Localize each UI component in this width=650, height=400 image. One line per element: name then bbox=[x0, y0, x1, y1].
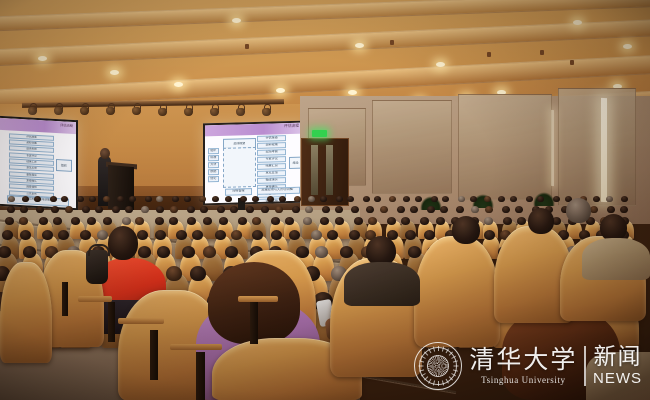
attendee-head bbox=[97, 230, 108, 240]
attendee-head bbox=[166, 266, 182, 281]
attendee-head bbox=[363, 196, 370, 202]
seat-leg bbox=[250, 300, 258, 344]
attendee-head bbox=[176, 230, 187, 240]
attendee-head bbox=[261, 206, 269, 213]
attendee-head bbox=[380, 206, 388, 213]
attendee-head bbox=[65, 206, 73, 213]
attendee-head bbox=[187, 206, 195, 213]
attendee-head bbox=[515, 206, 523, 213]
attendee-head bbox=[230, 206, 238, 213]
attendee-head bbox=[471, 206, 479, 213]
attendee-head bbox=[279, 196, 286, 202]
attendee-head bbox=[485, 206, 493, 213]
attendee-head bbox=[292, 206, 300, 213]
attendee-head bbox=[271, 217, 280, 225]
attendee-head bbox=[498, 196, 505, 202]
attendee-head bbox=[320, 196, 327, 202]
attendee-head bbox=[219, 217, 228, 225]
attendee-head bbox=[335, 217, 344, 225]
attendee-head bbox=[20, 206, 28, 213]
attendee-head bbox=[607, 206, 615, 213]
attendee-head bbox=[95, 206, 103, 213]
attendee-head bbox=[182, 246, 195, 258]
attendee-head bbox=[484, 196, 491, 202]
attendee-head bbox=[620, 206, 628, 213]
attendee-head bbox=[354, 217, 363, 225]
attendee-head bbox=[415, 196, 422, 202]
attendee-head bbox=[184, 196, 191, 202]
attendee-head bbox=[36, 206, 44, 213]
attendee-head bbox=[553, 196, 560, 202]
attendee-head bbox=[327, 230, 338, 240]
attendee-head bbox=[389, 196, 396, 202]
attendee-head bbox=[436, 217, 445, 225]
attendee-head bbox=[53, 217, 62, 225]
attendee-head bbox=[199, 196, 206, 202]
attendee-head bbox=[50, 196, 57, 202]
attendee-head bbox=[303, 217, 312, 225]
attendee-head bbox=[267, 196, 274, 202]
attendee-head bbox=[51, 206, 59, 213]
attendee-head bbox=[566, 198, 591, 223]
attendee-head bbox=[502, 206, 510, 213]
attendee-head bbox=[271, 230, 282, 240]
attendee-head bbox=[103, 196, 110, 202]
attendee-head bbox=[137, 230, 148, 240]
attendee-head bbox=[138, 246, 151, 258]
attendee-head bbox=[238, 217, 247, 225]
attendee-head bbox=[187, 217, 196, 225]
attendee-body bbox=[344, 262, 420, 306]
attendee-head bbox=[2, 230, 13, 240]
attendee-head bbox=[82, 206, 90, 213]
attendee-head bbox=[621, 196, 628, 202]
attendee-head bbox=[403, 196, 410, 202]
seat bbox=[0, 262, 52, 363]
attendee-head bbox=[340, 246, 353, 258]
attendee-head bbox=[145, 196, 152, 202]
attendee-head bbox=[200, 206, 208, 213]
attendee-head bbox=[129, 196, 136, 202]
attendee-head bbox=[275, 206, 283, 213]
attendee-head bbox=[347, 196, 354, 202]
attendee-head bbox=[351, 206, 359, 213]
attendee-head bbox=[484, 217, 493, 225]
attendee-head bbox=[408, 246, 421, 258]
attendee-head bbox=[155, 217, 164, 225]
attendee-head bbox=[39, 217, 48, 225]
attendee-red-jacket-head bbox=[108, 226, 138, 260]
attendee-head bbox=[215, 230, 226, 240]
attendee-head bbox=[212, 196, 219, 202]
attendee-head bbox=[77, 196, 84, 202]
attendee-head bbox=[217, 206, 225, 213]
attendee-head bbox=[156, 196, 163, 202]
attendee-head bbox=[87, 217, 96, 225]
attendee-head bbox=[225, 246, 238, 258]
attendee-head bbox=[470, 196, 477, 202]
attendee-head bbox=[192, 230, 203, 240]
attendee-head bbox=[20, 230, 31, 240]
attendee-head bbox=[322, 206, 330, 213]
seat-armrest bbox=[238, 296, 278, 302]
attendee-head bbox=[308, 196, 315, 202]
attendee-head bbox=[289, 230, 300, 240]
attendee-head bbox=[240, 196, 247, 202]
attendee-head bbox=[252, 196, 259, 202]
attendee-head bbox=[374, 196, 381, 202]
attendee-head bbox=[305, 206, 313, 213]
attendee-head bbox=[112, 206, 120, 213]
attendee-head bbox=[117, 196, 124, 202]
attendee-head bbox=[203, 246, 216, 258]
attendee-head bbox=[34, 196, 41, 202]
attendee-head bbox=[169, 217, 178, 225]
attendee-head bbox=[526, 196, 533, 202]
attendee-brown-hair-shoulder bbox=[586, 352, 650, 400]
attendee-head bbox=[170, 206, 178, 213]
attendee-head bbox=[410, 206, 418, 213]
attendee-head bbox=[510, 196, 517, 202]
attendee-head bbox=[294, 196, 301, 202]
seat-armrest bbox=[118, 318, 164, 324]
attendee-head bbox=[225, 196, 232, 202]
attendee-head bbox=[442, 196, 449, 202]
seat-leg bbox=[150, 330, 158, 380]
attendee-head bbox=[484, 230, 495, 240]
attendee-head bbox=[397, 206, 405, 213]
attendee-head bbox=[155, 230, 166, 240]
attendee-head bbox=[387, 217, 396, 225]
attendee-head bbox=[23, 246, 36, 258]
attendee-head bbox=[335, 206, 343, 213]
auditorium-photo: 评估流程 评估准备资料收集现场考察专家评议结果汇总意见反馈整改落实复核确认报告编… bbox=[0, 0, 650, 400]
attendee-head bbox=[103, 217, 112, 225]
attendee-head bbox=[252, 230, 263, 240]
attendee-head bbox=[600, 214, 627, 241]
attendee-head bbox=[366, 206, 374, 213]
attendee-head bbox=[593, 196, 600, 202]
attendee-head bbox=[336, 196, 343, 202]
attendee-head bbox=[440, 206, 448, 213]
attendee-head bbox=[458, 196, 465, 202]
bag-handle bbox=[88, 244, 110, 256]
seat-armrest bbox=[170, 344, 222, 350]
attendee-head bbox=[141, 206, 149, 213]
attendee-head bbox=[61, 196, 68, 202]
seat-armrest bbox=[78, 296, 112, 302]
seat-leg bbox=[108, 302, 115, 342]
attendee-head bbox=[7, 206, 15, 213]
attendee-head bbox=[8, 196, 15, 202]
attendee-head bbox=[22, 196, 29, 202]
seat bbox=[414, 236, 500, 347]
attendee-body bbox=[582, 238, 650, 280]
attendee-head bbox=[135, 217, 144, 225]
attendee-head bbox=[456, 206, 464, 213]
attendee-head bbox=[125, 206, 133, 213]
attendee-head bbox=[401, 217, 410, 225]
attendee-head bbox=[420, 217, 429, 225]
attendee-head bbox=[156, 206, 164, 213]
attendee-head bbox=[368, 217, 377, 225]
attendee-head bbox=[537, 196, 544, 202]
attendee-head bbox=[315, 246, 328, 258]
attendee-head bbox=[58, 230, 69, 240]
attendee-head bbox=[424, 230, 435, 240]
attendee-head bbox=[590, 206, 598, 213]
attendee-head bbox=[157, 246, 170, 258]
attendee-head bbox=[285, 217, 294, 225]
attendee-head bbox=[452, 216, 480, 244]
attendee-head bbox=[231, 230, 242, 240]
attendee-head bbox=[405, 230, 416, 240]
seat-leg bbox=[196, 352, 205, 400]
attendee-head bbox=[246, 206, 254, 213]
audience-seating bbox=[0, 0, 650, 400]
attendee-head bbox=[122, 217, 131, 225]
attendee-head bbox=[89, 196, 96, 202]
attendee-head bbox=[252, 217, 261, 225]
attendee-head bbox=[606, 196, 613, 202]
attendee-head bbox=[42, 230, 53, 240]
attendee-head bbox=[528, 208, 554, 234]
attendee-head bbox=[19, 217, 28, 225]
attendee-head bbox=[427, 206, 435, 213]
attendee-head bbox=[71, 217, 80, 225]
seat-leg bbox=[62, 282, 68, 316]
attendee-head bbox=[431, 196, 438, 202]
attendee-head bbox=[349, 230, 360, 240]
attendee-head bbox=[172, 196, 179, 202]
attendee-head bbox=[311, 230, 322, 240]
attendee-head bbox=[190, 266, 206, 281]
attendee-head bbox=[320, 217, 329, 225]
